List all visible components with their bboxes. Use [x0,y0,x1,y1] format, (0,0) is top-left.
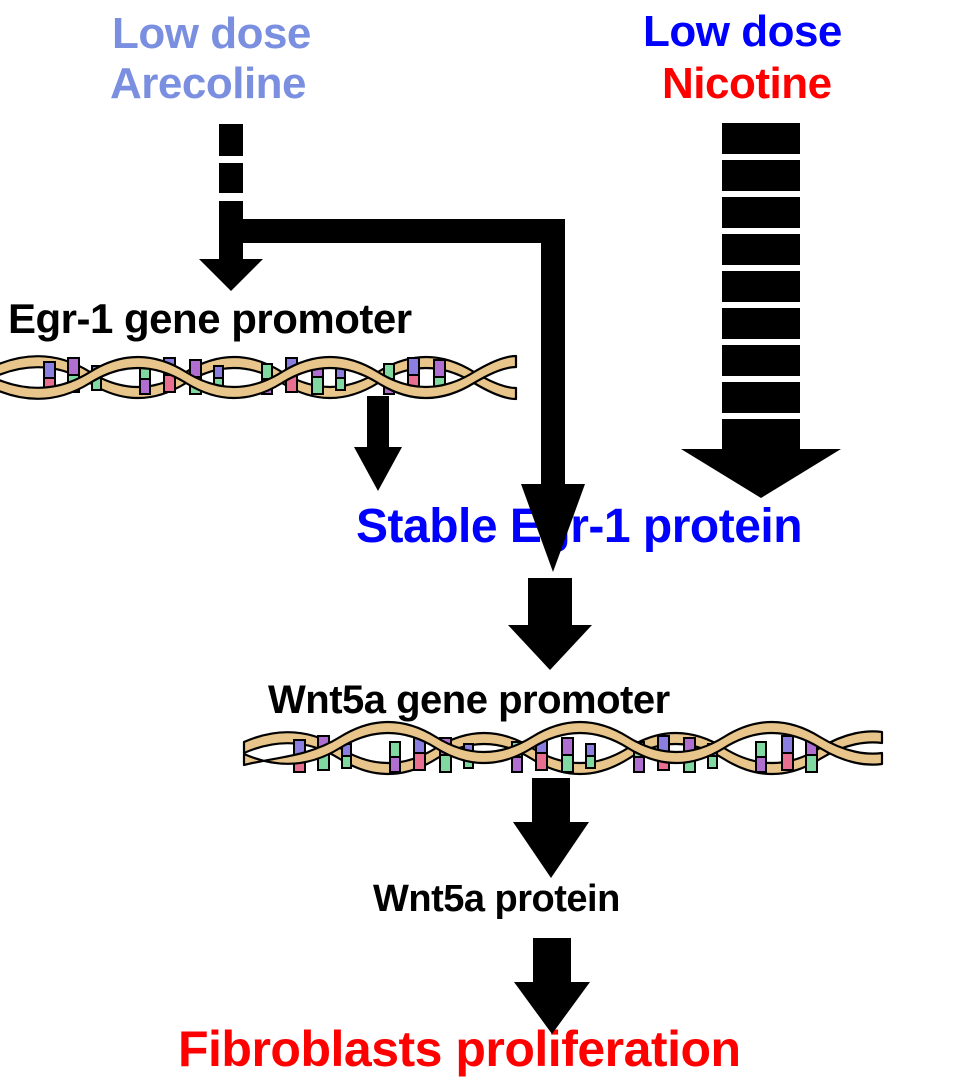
arecoline-to-egr1-arrow [199,124,263,291]
wnt5a-protein-label: Wnt5a protein [373,880,620,918]
nicotine-to-stable-egr1-arrow [681,123,841,498]
fibroblasts-proliferation-label: Fibroblasts proliferation [178,1024,741,1074]
stable-egr1-protein-label: Stable Egr-1 protein [356,503,802,551]
nicotine-stimulus-line1: Low dose [643,10,842,54]
pathway-diagram: Low dose Arecoline Low dose Nicotine Egr… [0,0,968,1089]
nicotine-stimulus-line2: Nicotine [662,62,832,106]
stable-egr1-to-wnt5a-promoter-arrow [508,578,592,670]
wnt5a-dna-helix [244,722,882,774]
wnt5a-promoter-to-protein-arrow [513,778,589,878]
arecoline-stimulus-line1: Low dose [112,12,311,56]
egr1-dna-helix [0,356,516,399]
egr1-gene-promoter-label: Egr-1 gene promoter [8,298,412,340]
egr1-promoter-to-protein-arrow [354,396,402,491]
wnt5a-gene-promoter-label: Wnt5a gene promoter [268,680,670,720]
arecoline-stimulus-line2: Arecoline [110,62,306,106]
wnt5a-protein-to-fibroblasts-arrow [514,938,590,1034]
